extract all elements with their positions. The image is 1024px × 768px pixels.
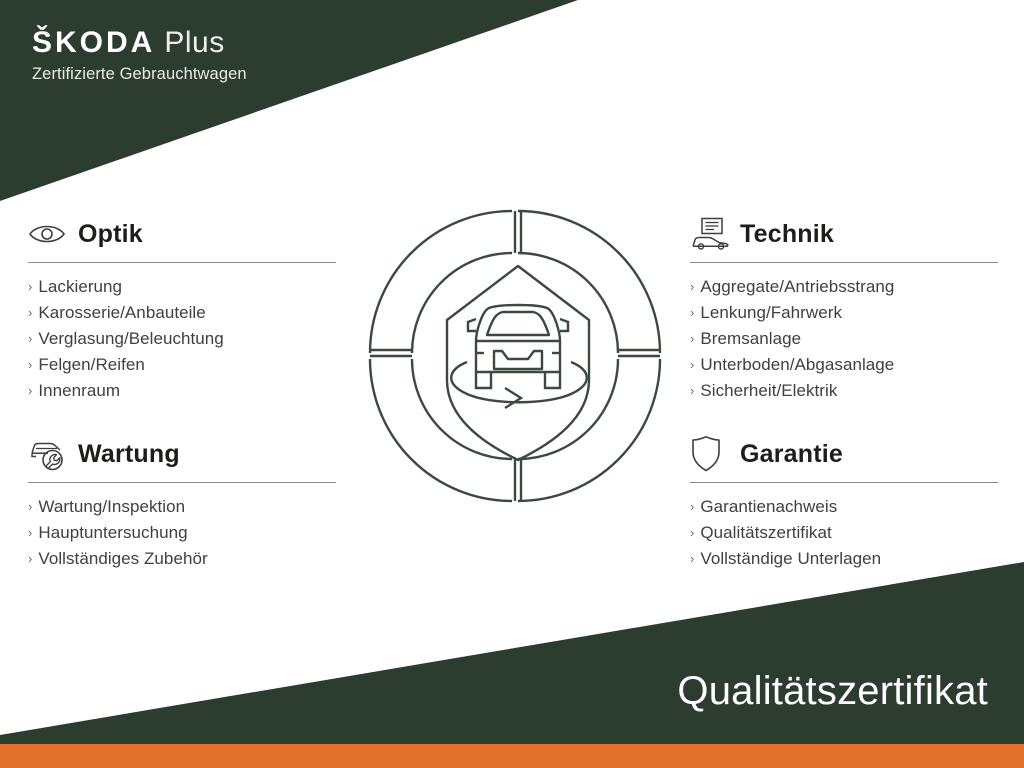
list-item-label: Lenkung/Fahrwerk bbox=[700, 300, 842, 325]
chevron-right-icon: › bbox=[28, 326, 32, 351]
section-garantie-header: Garantie bbox=[690, 434, 998, 474]
list-item-label: Wartung/Inspektion bbox=[38, 494, 185, 519]
brand-lockup: ŠKODAPlus Zertifizierte Gebrauchtwagen bbox=[32, 26, 247, 85]
list-item: ›Hauptuntersuchung bbox=[28, 520, 336, 546]
list-item: ›Aggregate/Antriebsstrang bbox=[690, 274, 998, 300]
section-technik-header: Technik bbox=[690, 214, 998, 254]
certificate-page: ŠKODAPlus Zertifizierte Gebrauchtwagen O… bbox=[0, 0, 1024, 768]
list-item: ›Karosserie/Anbauteile bbox=[28, 300, 336, 326]
shield-icon bbox=[690, 435, 734, 473]
section-wartung-divider bbox=[28, 482, 336, 483]
list-item-label: Karosserie/Anbauteile bbox=[38, 300, 205, 325]
chevron-right-icon: › bbox=[690, 274, 694, 299]
section-optik-divider bbox=[28, 262, 336, 263]
section-wartung-header: Wartung bbox=[28, 434, 336, 474]
car-wrench-icon bbox=[28, 435, 72, 473]
list-item: ›Wartung/Inspektion bbox=[28, 494, 336, 520]
section-wartung-title: Wartung bbox=[78, 440, 180, 469]
section-technik: Technik ›Aggregate/Antriebsstrang ›Lenku… bbox=[690, 214, 998, 404]
chevron-right-icon: › bbox=[28, 378, 32, 403]
section-wartung: Wartung ›Wartung/Inspektion ›Hauptunters… bbox=[28, 434, 336, 572]
chevron-right-icon: › bbox=[690, 494, 694, 519]
section-optik: Optik ›Lackierung ›Karosserie/Anbauteile… bbox=[28, 214, 336, 404]
chevron-right-icon: › bbox=[690, 520, 694, 545]
list-item-label: Felgen/Reifen bbox=[38, 352, 145, 377]
brand-skoda-wordmark: ŠKODA bbox=[32, 26, 155, 59]
section-technik-title: Technik bbox=[740, 220, 834, 249]
list-item-label: Qualitätszertifikat bbox=[700, 520, 831, 545]
list-item: ›Sicherheit/Elektrik bbox=[690, 378, 998, 404]
chevron-right-icon: › bbox=[690, 352, 694, 377]
list-item: ›Vollständige Unterlagen bbox=[690, 546, 998, 572]
section-optik-list: ›Lackierung ›Karosserie/Anbauteile ›Verg… bbox=[28, 274, 336, 404]
section-garantie-list: ›Garantienachweis ›Qualitätszertifikat ›… bbox=[690, 494, 998, 572]
list-item: ›Garantienachweis bbox=[690, 494, 998, 520]
bottom-orange-bar bbox=[0, 744, 1024, 768]
chevron-right-icon: › bbox=[28, 300, 32, 325]
list-item: ›Innenraum bbox=[28, 378, 336, 404]
section-optik-header: Optik bbox=[28, 214, 336, 254]
list-item: ›Felgen/Reifen bbox=[28, 352, 336, 378]
list-item: ›Vollständiges Zubehör bbox=[28, 546, 336, 572]
chevron-right-icon: › bbox=[28, 546, 32, 571]
section-optik-title: Optik bbox=[78, 220, 143, 249]
brand-name-line: ŠKODAPlus bbox=[32, 26, 247, 60]
list-item-label: Verglasung/Beleuchtung bbox=[38, 326, 223, 351]
list-item-label: Hauptuntersuchung bbox=[38, 520, 187, 545]
list-item-label: Unterboden/Abgasanlage bbox=[700, 352, 894, 377]
section-garantie-title: Garantie bbox=[740, 440, 843, 469]
section-garantie: Garantie ›Garantienachweis ›Qualitätszer… bbox=[690, 434, 998, 572]
chevron-right-icon: › bbox=[690, 546, 694, 571]
car-shield-rotation-emblem bbox=[363, 198, 673, 518]
list-item-label: Vollständige Unterlagen bbox=[700, 546, 881, 571]
brand-plus-wordmark: Plus bbox=[164, 26, 224, 59]
car-document-icon bbox=[690, 215, 734, 253]
list-item-label: Innenraum bbox=[38, 378, 120, 403]
chevron-right-icon: › bbox=[690, 326, 694, 351]
list-item: ›Bremsanlage bbox=[690, 326, 998, 352]
chevron-right-icon: › bbox=[28, 494, 32, 519]
eye-icon bbox=[28, 215, 72, 253]
list-item: ›Verglasung/Beleuchtung bbox=[28, 326, 336, 352]
list-item: ›Lenkung/Fahrwerk bbox=[690, 300, 998, 326]
footer-headline: Qualitätszertifikat bbox=[677, 668, 988, 714]
list-item: ›Lackierung bbox=[28, 274, 336, 300]
chevron-right-icon: › bbox=[690, 300, 694, 325]
list-item: ›Unterboden/Abgasanlage bbox=[690, 352, 998, 378]
list-item-label: Vollständiges Zubehör bbox=[38, 546, 207, 571]
list-item-label: Bremsanlage bbox=[700, 326, 801, 351]
list-item-label: Lackierung bbox=[38, 274, 122, 299]
list-item-label: Sicherheit/Elektrik bbox=[700, 378, 837, 403]
section-technik-list: ›Aggregate/Antriebsstrang ›Lenkung/Fahrw… bbox=[690, 274, 998, 404]
chevron-right-icon: › bbox=[690, 378, 694, 403]
section-garantie-divider bbox=[690, 482, 998, 483]
brand-tagline: Zertifizierte Gebrauchtwagen bbox=[32, 63, 247, 85]
chevron-right-icon: › bbox=[28, 352, 32, 377]
section-wartung-list: ›Wartung/Inspektion ›Hauptuntersuchung ›… bbox=[28, 494, 336, 572]
list-item-label: Aggregate/Antriebsstrang bbox=[700, 274, 894, 299]
section-technik-divider bbox=[690, 262, 998, 263]
list-item: ›Qualitätszertifikat bbox=[690, 520, 998, 546]
chevron-right-icon: › bbox=[28, 520, 32, 545]
list-item-label: Garantienachweis bbox=[700, 494, 837, 519]
chevron-right-icon: › bbox=[28, 274, 32, 299]
